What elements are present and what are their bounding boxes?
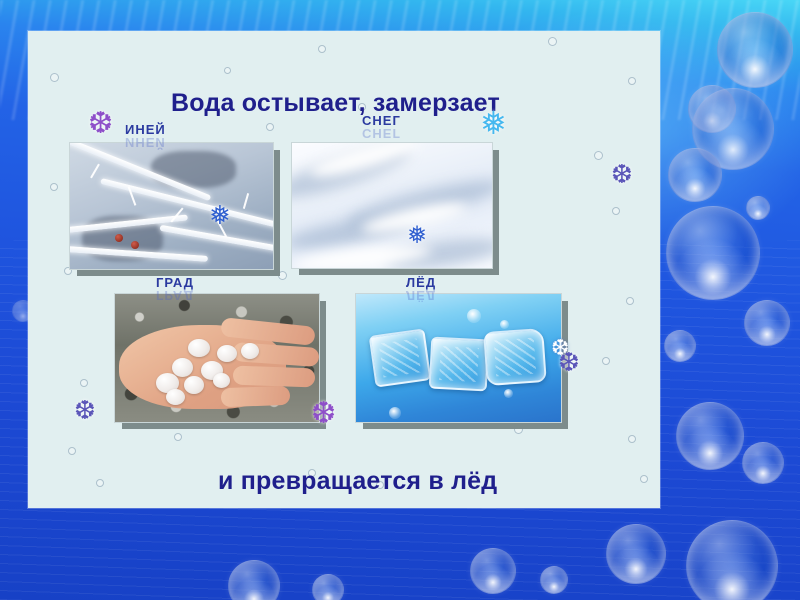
speck: [628, 435, 636, 443]
speck: [602, 357, 610, 365]
background-bubble: [606, 524, 666, 584]
speck: [68, 447, 76, 455]
speck: [640, 475, 648, 483]
photo-frost-image: [69, 142, 274, 270]
speck: [224, 67, 231, 74]
background-bubble: [664, 330, 696, 362]
caption-reflection: ГРАД: [156, 288, 194, 303]
ice-bubble: [467, 309, 481, 323]
hand-finger: [221, 386, 291, 408]
caption-reflection: ЛЁД: [406, 288, 436, 303]
photo-ice-image: [355, 293, 562, 423]
hailstone: [241, 343, 259, 359]
speck: [80, 379, 88, 387]
caption-reflection: ИНЕЙ: [125, 135, 166, 150]
photo-hail-image: [114, 293, 320, 423]
ice-cube: [369, 329, 432, 388]
caption-reflection: СНЕГ: [362, 126, 401, 141]
photo-snow[interactable]: ❅: [291, 142, 491, 267]
ice-bubble: [389, 407, 401, 419]
speck: [318, 45, 326, 53]
speck: [548, 37, 557, 46]
background-bubble: [470, 548, 516, 594]
slide-canvas: Вода остывает, замерзает ❅: [0, 0, 800, 600]
speck: [626, 297, 634, 305]
speck: [612, 207, 620, 215]
background-bubble: [744, 300, 790, 346]
snowflake-icon: ❆: [311, 399, 336, 429]
background-bubble: [666, 206, 760, 300]
snowflake-icon: ❅: [407, 224, 427, 248]
snowflake-icon: ❆: [558, 349, 580, 375]
ice-bubble: [500, 320, 509, 329]
snowflake-icon: ❆: [74, 397, 96, 423]
speck: [174, 433, 182, 441]
snowflake-icon: ❅: [209, 202, 231, 228]
background-bubble: [676, 402, 744, 470]
background-bubble: [312, 574, 344, 600]
photo-ice-caption: ЛЁД ЛЁД: [406, 275, 436, 290]
frost-berry: [115, 234, 123, 242]
speck: [96, 479, 104, 487]
ice-cube: [483, 328, 547, 386]
frost-crystal: [90, 164, 100, 179]
background-bubble: [746, 196, 770, 220]
page-subtitle: и превращается в лёд: [218, 467, 497, 496]
slide-panel: Вода остывает, замерзает ❅: [28, 31, 660, 508]
background-bubble: [717, 12, 793, 88]
speck: [628, 77, 636, 85]
photo-hail-caption: ГРАД ГРАД: [156, 275, 194, 290]
background-bubble: [668, 148, 722, 202]
photo-snow-caption: СНЕГ СНЕГ: [362, 113, 401, 128]
snowflake-icon: ❆: [611, 161, 633, 187]
background-bubble: [742, 442, 784, 484]
photo-ice[interactable]: ❆: [355, 293, 560, 421]
speck: [266, 123, 274, 131]
page-title: Вода остывает, замерзает: [171, 89, 500, 118]
ice-bubble: [504, 389, 513, 398]
snowflake-icon: ❆: [88, 109, 113, 139]
speck: [594, 151, 603, 160]
hailstone: [172, 358, 193, 377]
snowflake-icon: ❅: [480, 107, 507, 139]
hand-finger: [233, 366, 315, 388]
photo-frost[interactable]: ❅: [69, 142, 272, 268]
photo-snow-image: [291, 142, 493, 269]
hailstone: [166, 389, 185, 405]
frost-crystal: [242, 193, 248, 209]
photo-frost-caption: ИНЕЙ ИНЕЙ: [125, 122, 166, 137]
ice-cube: [428, 336, 489, 391]
speck: [50, 183, 58, 191]
photo-hail[interactable]: [114, 293, 318, 421]
background-bubble: [540, 566, 568, 594]
speck: [50, 73, 59, 82]
